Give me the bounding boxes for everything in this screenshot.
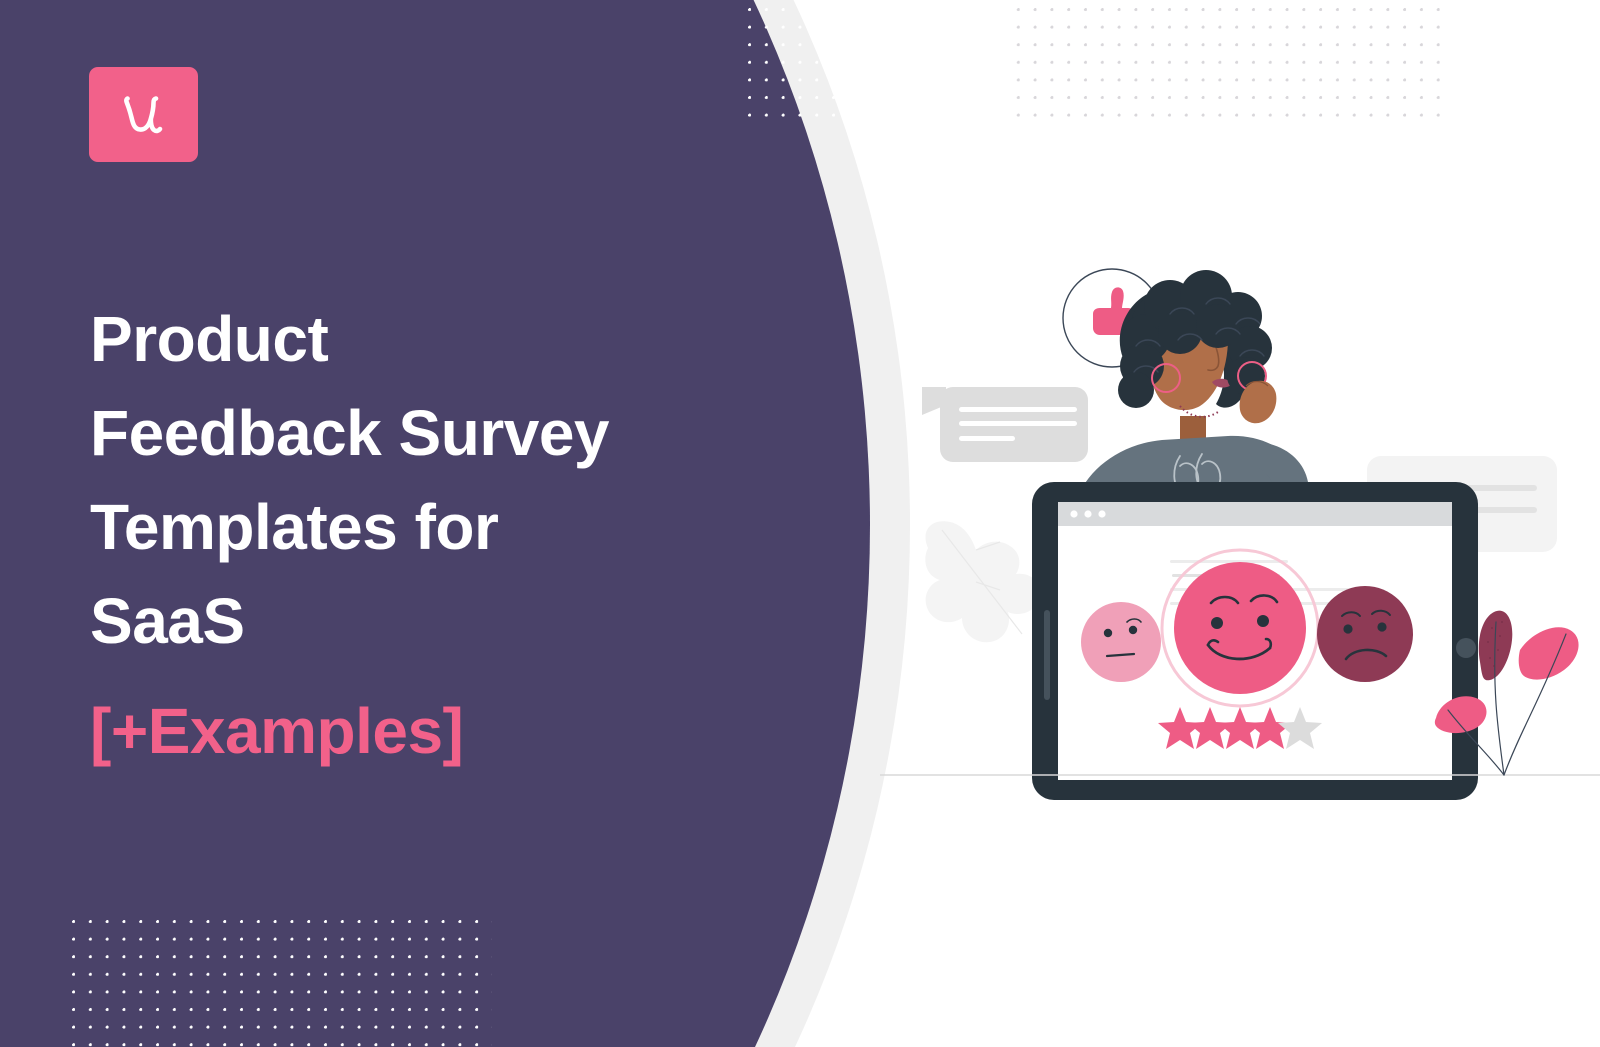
- logo-u-glyph: [114, 85, 174, 145]
- neutral-face[interactable]: [1081, 602, 1161, 682]
- headline-line-1: Product: [90, 292, 730, 386]
- chat-bubble-left: [922, 387, 1088, 462]
- hero-banner: Product Feedback Survey Templates for Sa…: [0, 0, 1600, 1047]
- sad-face[interactable]: [1317, 586, 1413, 682]
- headline-line-2: Feedback Survey: [90, 386, 730, 480]
- toolbar-dots: [1070, 510, 1105, 517]
- page-title: Product Feedback Survey Templates for Sa…: [90, 292, 730, 778]
- feedback-survey-illustration: [880, 230, 1600, 810]
- userpilot-logo[interactable]: [89, 67, 198, 162]
- headline-accent: [+Examples]: [90, 684, 730, 778]
- dot-pattern-top-right: [748, 8, 1448, 120]
- headline-line-4: SaaS: [90, 574, 730, 668]
- headline-line-3: Templates for: [90, 480, 730, 574]
- leaf-backdrop: [925, 521, 1040, 642]
- dot-pattern-bottom-left: [72, 920, 492, 1047]
- happy-face[interactable]: [1162, 550, 1318, 706]
